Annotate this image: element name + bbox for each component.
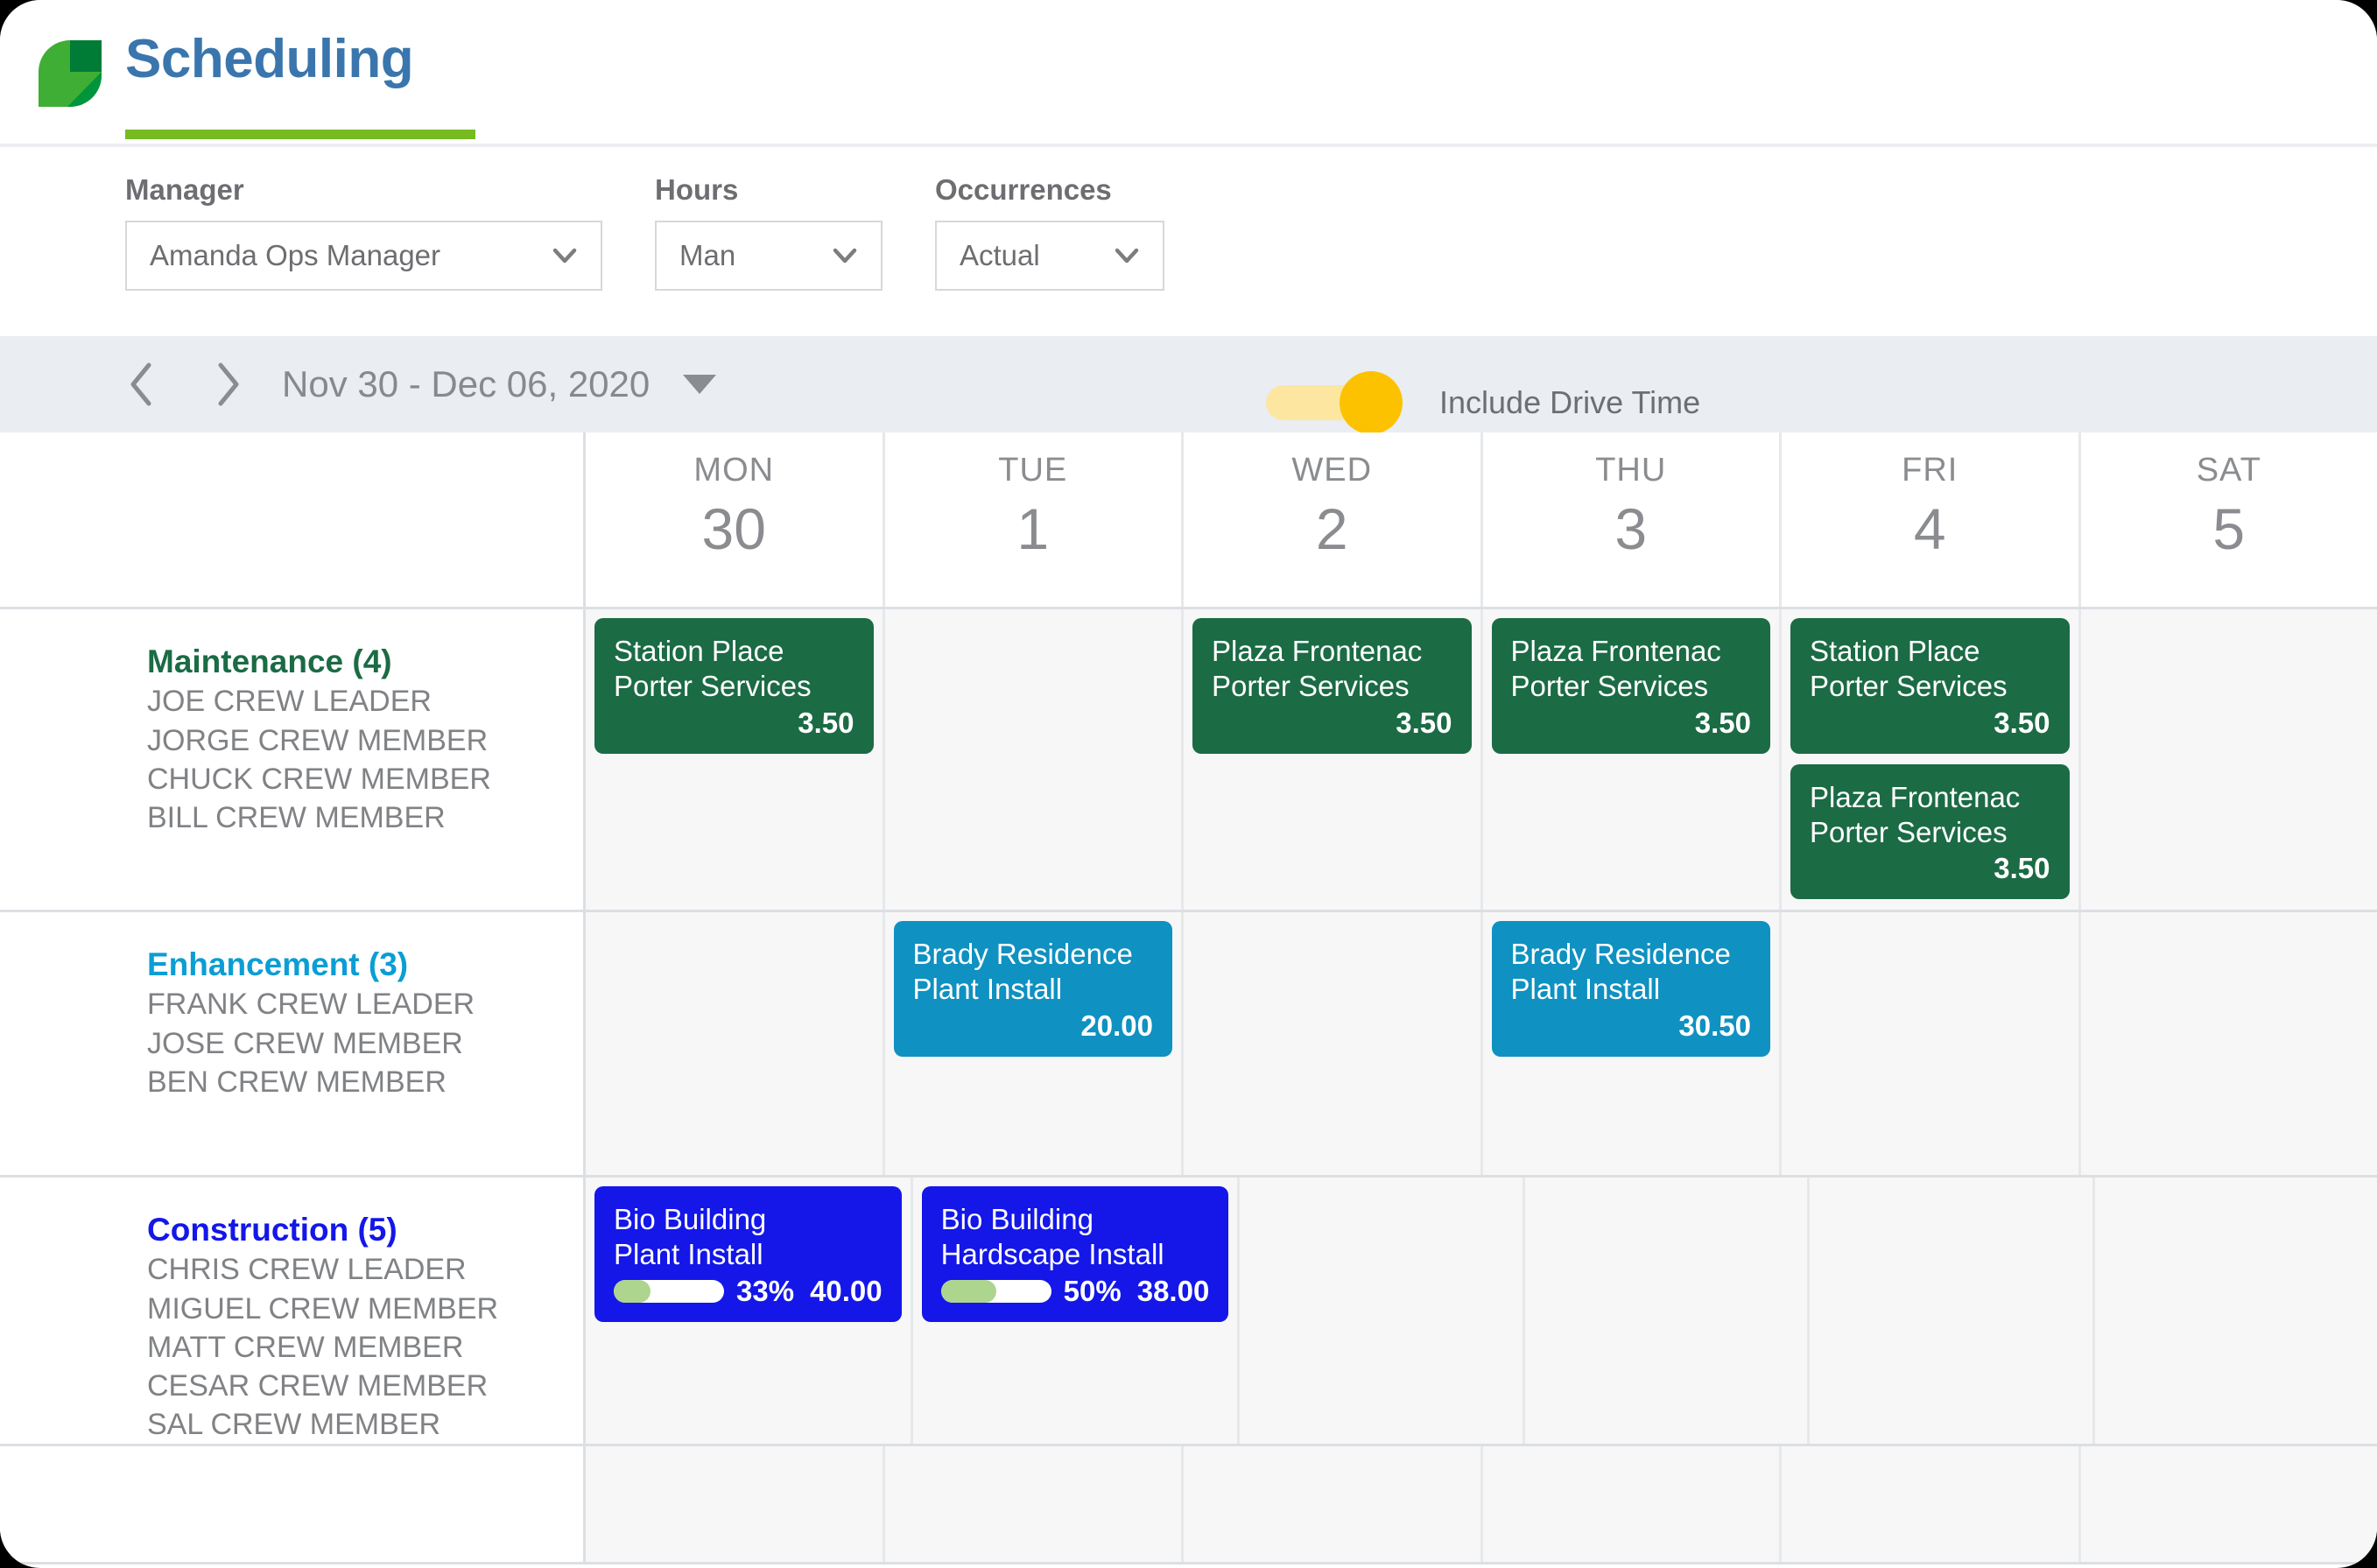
event-service-name: Plant Install — [913, 972, 1154, 1007]
day-of-month-label: 4 — [1914, 500, 1946, 558]
event-footer: 50%38.00 — [941, 1273, 1210, 1310]
event-service-name: Porter Services — [1810, 669, 2050, 704]
crew-info-cell: Construction (5)CHRIS CREW LEADERMIGUEL … — [0, 1178, 586, 1444]
schedule-cell[interactable] — [586, 912, 885, 1175]
manager-selected-value: Amanda Ops Manager — [150, 239, 440, 272]
schedule-cell[interactable] — [1240, 1178, 1524, 1444]
hours-filter: Hours Man — [655, 173, 883, 291]
crew-info: Maintenance (4)JOE CREW LEADERJORGE CREW… — [0, 609, 583, 837]
occurrences-select[interactable]: Actual — [935, 221, 1164, 291]
event-site-name: Plaza Frontenac — [1810, 780, 2050, 815]
event-site-name: Bio Building — [941, 1202, 1210, 1237]
event-service-name: Plant Install — [1511, 972, 1752, 1007]
day-header-list: MON30TUE1WED2THU3FRI4SAT5 — [586, 432, 2377, 607]
leaf-logo-icon — [39, 40, 102, 107]
day-of-week-label: THU — [1595, 452, 1666, 489]
event-service-name: Plant Install — [614, 1237, 883, 1272]
crew-info-cell: Maintenance (4)JOE CREW LEADERJORGE CREW… — [0, 609, 586, 910]
schedule-cell[interactable] — [885, 609, 1185, 910]
event-footer: 3.50 — [1212, 705, 1452, 742]
chevron-left-icon[interactable] — [117, 360, 166, 409]
crew-info-cell — [0, 1446, 586, 1562]
event-service-name: Hardscape Install — [941, 1237, 1210, 1272]
schedule-cell[interactable]: Brady ResidencePlant Install20.00 — [885, 912, 1185, 1175]
event-site-name: Station Place — [1810, 634, 2050, 669]
schedule-event-card[interactable]: Station PlacePorter Services3.50 — [1790, 618, 2070, 754]
schedule-cell[interactable] — [1525, 1178, 1810, 1444]
crew-row: Enhancement (3)FRANK CREW LEADERJOSE CRE… — [0, 912, 2377, 1178]
event-footer: 33%40.00 — [614, 1273, 883, 1310]
day-of-week-label: SAT — [2197, 452, 2261, 489]
crew-member: MIGUEL CREW MEMBER — [147, 1290, 583, 1328]
day-header-wed[interactable]: WED2 — [1184, 432, 1483, 607]
crew-member: BEN CREW MEMBER — [147, 1063, 583, 1101]
crew-name[interactable]: Maintenance (4) — [147, 641, 583, 682]
schedule-event-card[interactable]: Brady ResidencePlant Install30.50 — [1492, 921, 1771, 1057]
day-of-month-label: 3 — [1614, 500, 1647, 558]
calendar-body: Maintenance (4)JOE CREW LEADERJORGE CREW… — [0, 609, 2377, 1564]
event-service-name: Porter Services — [1511, 669, 1752, 704]
chevron-right-icon[interactable] — [203, 360, 252, 409]
day-of-month-label: 2 — [1316, 500, 1348, 558]
day-of-month-label: 1 — [1016, 500, 1049, 558]
crew-member: JOE CREW LEADER — [147, 682, 583, 721]
schedule-cell[interactable]: Bio BuildingPlant Install33%40.00 — [586, 1178, 913, 1444]
day-header-fri[interactable]: FRI4 — [1782, 432, 2081, 607]
manager-select[interactable]: Amanda Ops Manager — [125, 221, 602, 291]
crew-member: CHRIS CREW LEADER — [147, 1250, 583, 1289]
event-service-name: Porter Services — [1212, 669, 1452, 704]
include-drive-time-label: Include Drive Time — [1439, 384, 1700, 421]
crew-info: Enhancement (3)FRANK CREW LEADERJOSE CRE… — [0, 912, 583, 1101]
day-cell-list: Bio BuildingPlant Install33%40.00Bio Bui… — [586, 1178, 2377, 1444]
schedule-event-card[interactable]: Bio BuildingPlant Install33%40.00 — [594, 1186, 902, 1322]
event-footer: 30.50 — [1511, 1008, 1752, 1044]
crew-member: JORGE CREW MEMBER — [147, 721, 583, 760]
crew-row: Construction (5)CHRIS CREW LEADERMIGUEL … — [0, 1178, 2377, 1446]
schedule-cell[interactable]: Brady ResidencePlant Install30.50 — [1483, 912, 1783, 1175]
schedule-cell[interactable] — [586, 1446, 885, 1562]
schedule-cell[interactable] — [1810, 1178, 2094, 1444]
schedule-cell[interactable] — [1184, 1446, 1483, 1562]
occurrences-selected-value: Actual — [960, 239, 1040, 272]
day-header-mon[interactable]: MON30 — [586, 432, 885, 607]
event-hours-label: 20.00 — [1080, 1009, 1153, 1043]
event-hours-label: 3.50 — [1695, 707, 1751, 740]
event-site-name: Brady Residence — [913, 937, 1154, 972]
event-hours-label: 30.50 — [1678, 1009, 1751, 1043]
day-of-month-label: 5 — [2212, 500, 2245, 558]
hours-label: Hours — [655, 173, 883, 207]
schedule-cell[interactable] — [1782, 912, 2081, 1175]
event-footer: 20.00 — [913, 1008, 1154, 1044]
event-hours-label: 3.50 — [1396, 707, 1452, 740]
crew-member: SAL CREW MEMBER — [147, 1405, 583, 1444]
scheduling-app: Scheduling Manager Amanda Ops Manager Ho… — [0, 0, 2377, 1568]
include-drive-time-control: Include Drive Time — [1266, 380, 1700, 425]
schedule-event-card[interactable]: Station PlacePorter Services3.50 — [594, 618, 874, 754]
schedule-cell[interactable] — [1184, 912, 1483, 1175]
day-of-week-label: WED — [1291, 452, 1372, 489]
app-header: Scheduling — [0, 0, 2377, 147]
day-cell-list — [586, 1446, 2377, 1562]
schedule-event-card[interactable]: Plaza FrontenacPorter Services3.50 — [1790, 764, 2070, 900]
hours-selected-value: Man — [679, 239, 735, 272]
chevron-down-icon — [552, 243, 578, 269]
crew-info-cell: Enhancement (3)FRANK CREW LEADERJOSE CRE… — [0, 912, 586, 1175]
crew-member: MATT CREW MEMBER — [147, 1328, 583, 1367]
day-header-tue[interactable]: TUE1 — [885, 432, 1185, 607]
event-site-name: Brady Residence — [1511, 937, 1752, 972]
event-hours-label: 40.00 — [810, 1275, 883, 1308]
filter-bar: Manager Amanda Ops Manager Hours Man Occ… — [0, 147, 2377, 336]
event-footer: 3.50 — [614, 705, 854, 742]
schedule-cell[interactable] — [2081, 1446, 2377, 1562]
event-site-name: Plaza Frontenac — [1511, 634, 1752, 669]
schedule-cell[interactable] — [885, 1446, 1185, 1562]
toggle-knob[interactable] — [1340, 371, 1403, 434]
day-of-week-label: FRI — [1902, 452, 1958, 489]
schedule-event-card[interactable]: Plaza FrontenacPorter Services3.50 — [1192, 618, 1472, 754]
event-progress: 50% — [941, 1275, 1122, 1308]
hours-select[interactable]: Man — [655, 221, 883, 291]
event-hours-label: 3.50 — [1994, 852, 2050, 885]
schedule-cell[interactable] — [1483, 1446, 1783, 1562]
schedule-event-card[interactable]: Plaza FrontenacPorter Services3.50 — [1492, 618, 1771, 754]
date-navigation-bar: Nov 30 - Dec 06, 2020 — [0, 336, 2377, 432]
calendar-corner-cell — [0, 432, 586, 607]
progress-fill — [614, 1280, 651, 1303]
event-hours-label: 3.50 — [798, 707, 854, 740]
crew-member: CESAR CREW MEMBER — [147, 1367, 583, 1405]
day-of-week-label: MON — [693, 452, 774, 489]
event-site-name: Bio Building — [614, 1202, 883, 1237]
crew-member: BILL CREW MEMBER — [147, 798, 583, 837]
schedule-cell[interactable] — [2081, 609, 2377, 910]
crew-row: Maintenance (4)JOE CREW LEADERJORGE CREW… — [0, 609, 2377, 912]
schedule-cell[interactable]: Station PlacePorter Services3.50 — [586, 609, 885, 910]
schedule-cell[interactable] — [1782, 1446, 2081, 1562]
crew-member: JOSE CREW MEMBER — [147, 1024, 583, 1063]
event-footer: 3.50 — [1810, 850, 2050, 887]
crew-info: Construction (5)CHRIS CREW LEADERMIGUEL … — [0, 1178, 583, 1444]
occurrences-filter: Occurrences Actual — [935, 173, 1164, 291]
event-footer: 3.50 — [1511, 705, 1752, 742]
progress-track — [614, 1280, 724, 1303]
event-site-name: Station Place — [614, 634, 854, 669]
schedule-cell[interactable]: Plaza FrontenacPorter Services3.50 — [1184, 609, 1483, 910]
day-of-month-label: 30 — [702, 500, 766, 558]
schedule-event-card[interactable]: Brady ResidencePlant Install20.00 — [894, 921, 1173, 1057]
event-site-name: Plaza Frontenac — [1212, 634, 1452, 669]
event-service-name: Porter Services — [1810, 815, 2050, 850]
event-hours-label: 3.50 — [1994, 707, 2050, 740]
day-of-week-label: TUE — [998, 452, 1067, 489]
caret-down-icon[interactable] — [683, 375, 716, 394]
date-range-label[interactable]: Nov 30 - Dec 06, 2020 — [282, 363, 650, 405]
schedule-cell[interactable]: Plaza FrontenacPorter Services3.50 — [1483, 609, 1783, 910]
crew-row — [0, 1446, 2377, 1564]
page-title: Scheduling — [125, 28, 413, 90]
progress-percent-label: 50% — [1064, 1275, 1122, 1308]
progress-percent-label: 33% — [736, 1275, 794, 1308]
chevron-down-icon — [832, 243, 858, 269]
chevron-down-icon — [1114, 243, 1140, 269]
event-progress: 33% — [614, 1275, 794, 1308]
crew-member: CHUCK CREW MEMBER — [147, 760, 583, 798]
schedule-calendar: MON30TUE1WED2THU3FRI4SAT5 Maintenance (4… — [0, 432, 2377, 1564]
progress-track — [941, 1280, 1051, 1303]
crew-name[interactable]: Construction (5) — [147, 1209, 583, 1250]
calendar-header-row: MON30TUE1WED2THU3FRI4SAT5 — [0, 432, 2377, 609]
day-header-thu[interactable]: THU3 — [1483, 432, 1783, 607]
day-cell-list: Brady ResidencePlant Install20.00Brady R… — [586, 912, 2377, 1175]
include-drive-time-toggle[interactable] — [1266, 380, 1397, 425]
occurrences-label: Occurrences — [935, 173, 1164, 207]
schedule-cell[interactable]: Bio BuildingHardscape Install50%38.00 — [913, 1178, 1241, 1444]
manager-label: Manager — [125, 173, 602, 207]
schedule-cell[interactable] — [2081, 912, 2377, 1175]
schedule-event-card[interactable]: Bio BuildingHardscape Install50%38.00 — [922, 1186, 1229, 1322]
progress-fill — [941, 1280, 996, 1303]
event-service-name: Porter Services — [614, 669, 854, 704]
event-footer: 3.50 — [1810, 705, 2050, 742]
title-underline — [125, 130, 475, 139]
crew-member: FRANK CREW LEADER — [147, 985, 583, 1023]
event-hours-label: 38.00 — [1137, 1275, 1210, 1308]
crew-name[interactable]: Enhancement (3) — [147, 944, 583, 985]
schedule-cell[interactable]: Station PlacePorter Services3.50Plaza Fr… — [1782, 609, 2081, 910]
schedule-cell[interactable] — [2095, 1178, 2377, 1444]
manager-filter: Manager Amanda Ops Manager — [125, 173, 602, 291]
day-header-sat[interactable]: SAT5 — [2081, 432, 2377, 607]
day-cell-list: Station PlacePorter Services3.50Plaza Fr… — [586, 609, 2377, 910]
